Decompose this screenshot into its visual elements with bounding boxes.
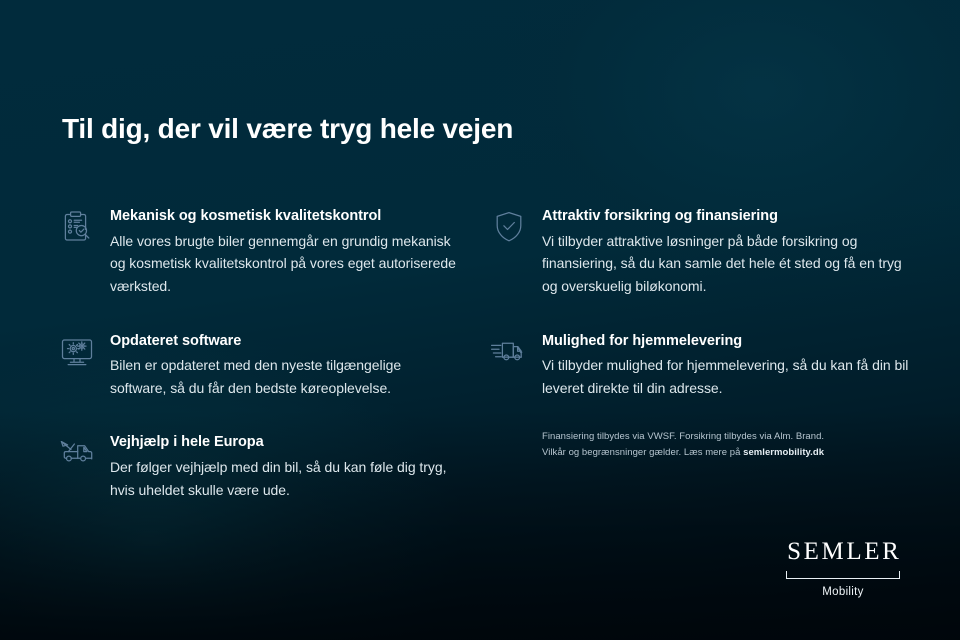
feature-text: Attraktiv forsikring og finansiering Vi … (542, 206, 910, 298)
feature-title: Mekanisk og kosmetisk kvalitetskontrol (110, 207, 458, 227)
brand-subtitle: Mobility (784, 586, 902, 598)
feature-title: Vejhjælp i hele Europa (110, 433, 458, 453)
feature-title: Attraktiv forsikring og finansiering (542, 207, 910, 227)
feature-description: Der følger vejhjælp med din bil, så du k… (110, 456, 458, 501)
feature-column-right: Attraktiv forsikring og finansiering Vi … (490, 206, 910, 461)
feature-description: Vi tilbyder mulighed for hjemmelevering,… (542, 354, 910, 399)
tow-truck-icon (58, 434, 96, 472)
feature-text: Mekanisk og kosmetisk kvalitetskontrol A… (110, 206, 458, 298)
delivery-truck-icon (490, 333, 528, 371)
monitor-gears-icon (58, 333, 96, 371)
disclaimer-line-2-prefix: Vilkår og begrænsninger gælder. Læs mere… (542, 447, 743, 458)
feature-item-home-delivery: Mulighed for hjemmelevering Vi tilbyder … (490, 331, 910, 400)
semler-mobility-logo: SEMLER Mobility (784, 539, 902, 598)
feature-description: Vi tilbyder attraktive løsninger på både… (542, 230, 910, 298)
feature-title: Opdateret software (110, 332, 458, 352)
brand-bracket-rule (786, 571, 900, 579)
disclaimer-line-1: Finansiering tilbydes via VWSF. Forsikri… (542, 431, 824, 442)
feature-item-updated-software: Opdateret software Bilen er opdateret me… (58, 331, 458, 400)
brand-wordmark: SEMLER (784, 539, 902, 564)
feature-text: Opdateret software Bilen er opdateret me… (110, 331, 458, 400)
promo-slide: Til dig, der vil være tryg hele vejen Me… (0, 0, 960, 640)
disclaimer-website-link[interactable]: semlermobility.dk (743, 447, 824, 458)
shield-check-icon (490, 208, 528, 246)
feature-description: Bilen er opdateret med den nyeste tilgæn… (110, 354, 458, 399)
page-title: Til dig, der vil være tryg hele vejen (62, 112, 513, 146)
feature-text: Mulighed for hjemmelevering Vi tilbyder … (542, 331, 910, 400)
feature-column-left: Mekanisk og kosmetisk kvalitetskontrol A… (58, 206, 458, 501)
feature-description: Alle vores brugte biler gennemgår en gru… (110, 230, 458, 298)
disclaimer-text: Finansiering tilbydes via VWSF. Forsikri… (542, 429, 842, 460)
feature-title: Mulighed for hjemmelevering (542, 332, 910, 352)
feature-item-quality-control: Mekanisk og kosmetisk kvalitetskontrol A… (58, 206, 458, 298)
feature-item-insurance-financing: Attraktiv forsikring og finansiering Vi … (490, 206, 910, 298)
feature-item-roadside-assistance: Vejhjælp i hele Europa Der følger vejhjæ… (58, 432, 458, 501)
clipboard-check-magnifier-icon (58, 208, 96, 246)
feature-text: Vejhjælp i hele Europa Der følger vejhjæ… (110, 432, 458, 501)
